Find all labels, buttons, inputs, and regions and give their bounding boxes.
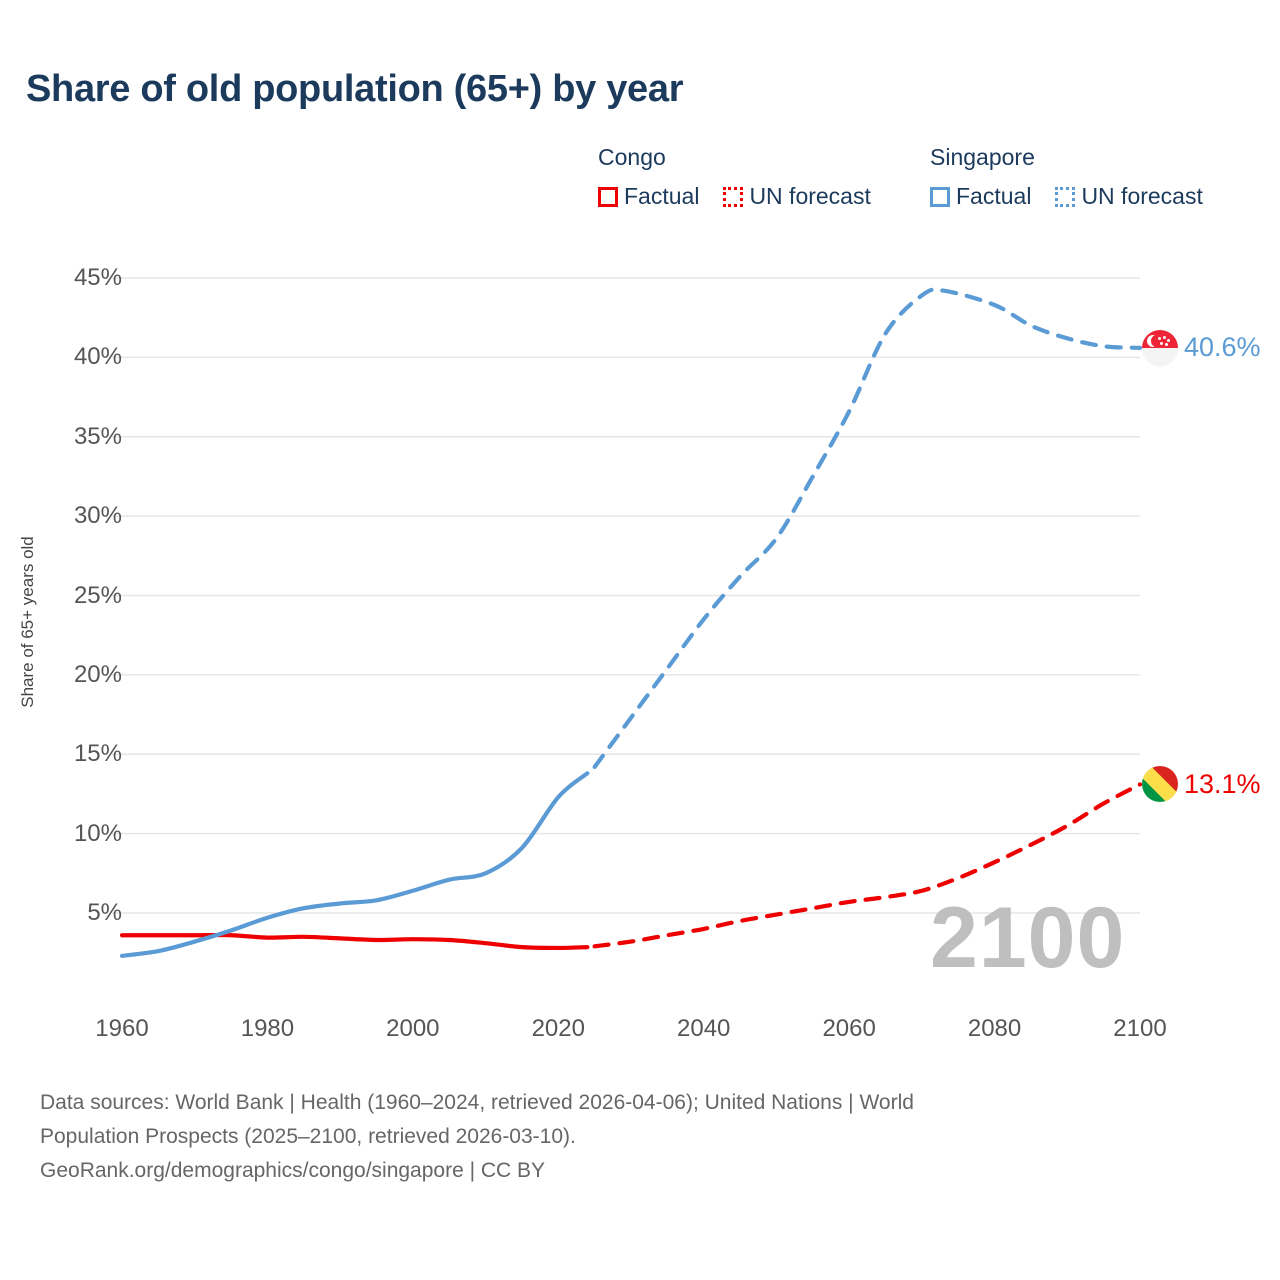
chart-series-group [122, 290, 1140, 956]
y-tick-label: 40% [2, 343, 122, 371]
chart-gridlines [112, 278, 1140, 913]
singapore-flag-icon [1142, 330, 1178, 366]
y-tick-label: 5% [2, 899, 122, 927]
series-line [595, 290, 1140, 767]
endpoint-value-congo: 13.1% [1184, 769, 1261, 800]
x-tick-label: 2060 [789, 1015, 909, 1043]
footer-line-3: GeoRank.org/demographics/congo/singapore… [40, 1154, 1170, 1188]
x-tick-label: 1980 [207, 1015, 327, 1043]
x-tick-label: 2020 [498, 1015, 618, 1043]
footer-line-1: Data sources: World Bank | Health (1960–… [40, 1086, 1170, 1120]
y-tick-label: 15% [2, 740, 122, 768]
x-tick-label: 2000 [353, 1015, 473, 1043]
congo-flag-icon [1142, 766, 1178, 802]
x-tick-label: 1960 [62, 1015, 182, 1043]
x-tick-label: 2080 [935, 1015, 1055, 1043]
series-line [595, 784, 1140, 946]
y-tick-label: 45% [2, 264, 122, 292]
series-line [122, 773, 587, 956]
endpoint-singapore: 40.6% [1142, 330, 1261, 366]
y-tick-label: 20% [2, 661, 122, 689]
x-tick-label: 2100 [1080, 1015, 1200, 1043]
chart-page: Share of old population (65+) by year Co… [0, 0, 1280, 1280]
x-tick-label: 2040 [644, 1015, 764, 1043]
y-tick-label: 35% [2, 423, 122, 451]
footer-sources: Data sources: World Bank | Health (1960–… [40, 1086, 1170, 1188]
footer-line-2: Population Prospects (2025–2100, retriev… [40, 1120, 1170, 1154]
endpoint-value-singapore: 40.6% [1184, 332, 1261, 363]
y-tick-label: 25% [2, 582, 122, 610]
y-tick-label: 30% [2, 502, 122, 530]
y-tick-label: 10% [2, 820, 122, 848]
endpoint-congo: 13.1% [1142, 766, 1261, 802]
